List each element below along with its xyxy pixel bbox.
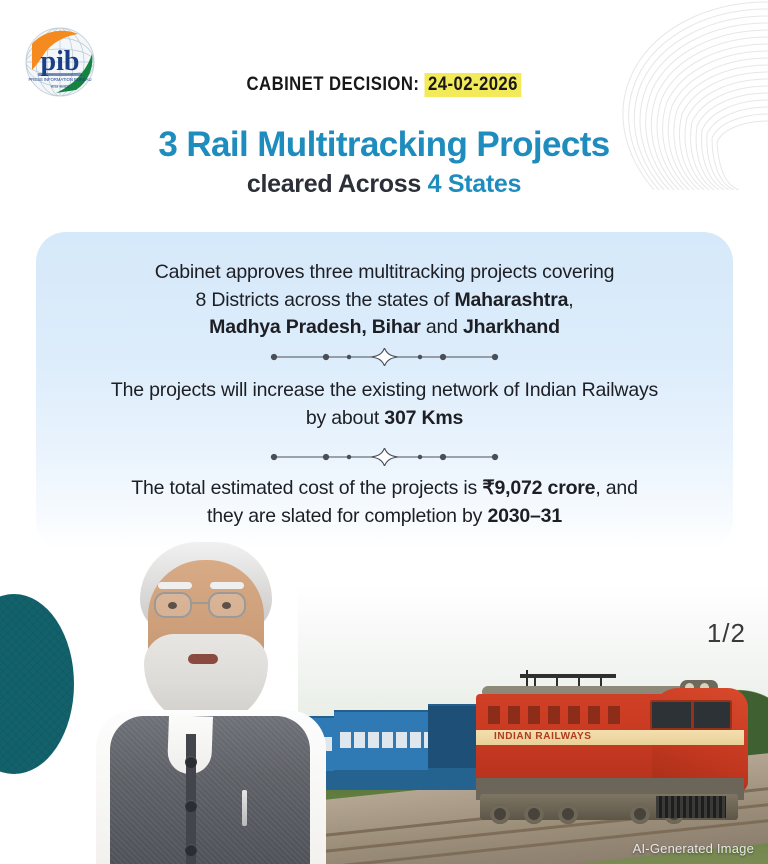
loco-cab-window bbox=[650, 700, 732, 730]
portrait-eyebrow bbox=[210, 582, 244, 589]
card-text-line: The total estimated cost of the projects… bbox=[64, 475, 705, 503]
card-text-line: Cabinet approves three multitracking pro… bbox=[64, 259, 705, 287]
body-text: , and bbox=[595, 477, 637, 499]
card-text-line: 8 Districts across the states of Maharas… bbox=[64, 287, 705, 315]
subtitle-prefix: cleared Across bbox=[247, 170, 428, 198]
photo-composite: INDIAN RAILWAYS AI-Generated Image bbox=[0, 525, 768, 864]
ai-generated-image-label: AI-Generated Image bbox=[633, 841, 754, 856]
cabinet-decision-date: 24-02-2026 bbox=[424, 73, 521, 97]
emphasis-text: Madhya Pradesh, Bihar bbox=[209, 316, 420, 338]
emphasis-text: 2030–31 bbox=[487, 505, 562, 527]
page-indicator: 1/2 bbox=[707, 618, 746, 649]
loco-side-windows bbox=[488, 706, 628, 724]
page-subtitle: cleared Across 4 States bbox=[0, 170, 768, 199]
body-text: Cabinet approves three multitracking pro… bbox=[155, 261, 615, 283]
ornament-divider bbox=[36, 448, 733, 466]
body-text: and bbox=[421, 316, 463, 338]
card-paragraph-cost-completion: The total estimated cost of the projects… bbox=[36, 475, 733, 530]
subtitle-accent: 4 States bbox=[428, 170, 522, 198]
emphasis-text: ₹9,072 crore bbox=[482, 477, 595, 499]
emphasis-text: 307 Kms bbox=[384, 407, 463, 429]
loco-front-grille bbox=[656, 796, 726, 818]
body-text: 8 Districts across the states of bbox=[196, 289, 455, 311]
info-card: Cabinet approves three multitracking pro… bbox=[36, 232, 733, 550]
page-title: 3 Rail Multitracking Projects bbox=[0, 126, 768, 163]
body-text: , bbox=[568, 289, 573, 311]
train-photo: INDIAN RAILWAYS AI-Generated Image bbox=[298, 584, 768, 864]
indian-railways-label: INDIAN RAILWAYS bbox=[494, 731, 592, 742]
portrait-eyebrow bbox=[158, 582, 192, 589]
cabinet-decision-label: CABINET DECISION: bbox=[247, 74, 420, 95]
body-text: by about bbox=[306, 407, 384, 429]
pib-logo-text: pib bbox=[41, 46, 80, 77]
card-paragraph-network-length: The projects will increase the existing … bbox=[36, 377, 733, 432]
body-text: The projects will increase the existing … bbox=[111, 379, 658, 401]
portrait-spectacles-bridge bbox=[192, 602, 208, 604]
locomotive: INDIAN RAILWAYS bbox=[476, 670, 744, 818]
emphasis-text: Jharkhand bbox=[463, 316, 560, 338]
headline-block: 3 Rail Multitracking Projects cleared Ac… bbox=[0, 126, 768, 199]
card-text-line: The projects will increase the existing … bbox=[64, 377, 705, 405]
body-text: The total estimated cost of the projects… bbox=[131, 477, 482, 499]
emphasis-text: Maharashtra bbox=[454, 289, 568, 311]
portrait-pen bbox=[242, 790, 247, 826]
portrait-mouth bbox=[188, 654, 218, 664]
portrait-jacket-button bbox=[185, 756, 197, 768]
prime-minister-portrait bbox=[90, 534, 332, 864]
cabinet-decision-line: CABINET DECISION: 24-02-2026 bbox=[46, 74, 722, 96]
portrait-jacket-button bbox=[185, 800, 197, 812]
card-text-line: Madhya Pradesh, Bihar and Jharkhand bbox=[64, 314, 705, 342]
ornament-divider bbox=[36, 348, 733, 366]
card-text-line: by about 307 Kms bbox=[64, 405, 705, 433]
portrait-spectacles bbox=[154, 592, 192, 618]
portrait-spectacles bbox=[208, 592, 246, 618]
card-paragraph-districts: Cabinet approves three multitracking pro… bbox=[36, 259, 733, 342]
body-text: they are slated for completion by bbox=[207, 505, 487, 527]
passenger-coach bbox=[334, 710, 434, 790]
portrait-jacket-button bbox=[185, 844, 197, 856]
